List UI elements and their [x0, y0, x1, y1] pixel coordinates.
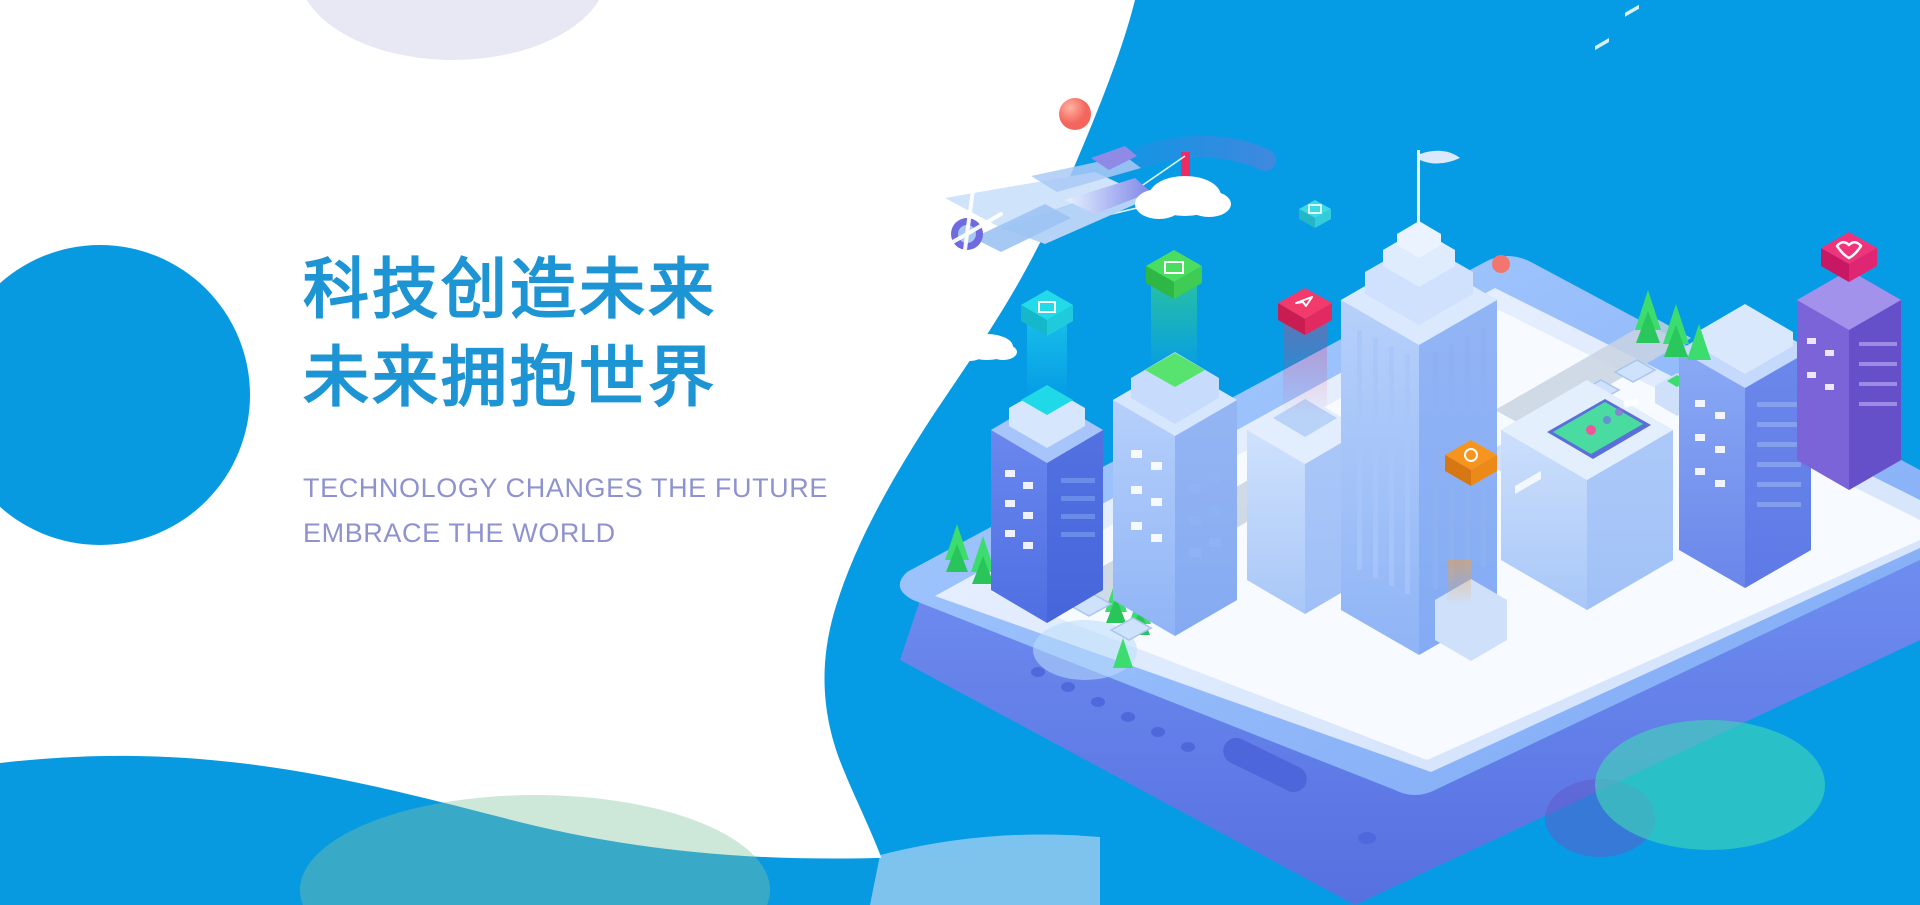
building-green-tower	[1113, 352, 1237, 636]
building-cyan-tower	[991, 385, 1103, 623]
cloud-large	[1135, 176, 1231, 219]
copy-block: 科技创造未来 未来拥抱世界 TECHNOLOGY CHANGES THE FUT…	[303, 245, 923, 556]
building-flagship-skyscraper	[1341, 150, 1497, 655]
beacon-cyan	[1021, 290, 1073, 396]
beacon-tag-small	[1299, 200, 1331, 228]
beacon-green	[1146, 250, 1202, 372]
headline-line-1: 科技创造未来	[303, 245, 923, 333]
decor-ellipse-teal	[1595, 720, 1825, 850]
beacon-pink	[1278, 288, 1332, 414]
subtitle-block: TECHNOLOGY CHANGES THE FUTURE EMBRACE TH…	[303, 466, 923, 556]
building-heart-beacon	[1797, 270, 1901, 490]
balloon-pink	[1492, 255, 1510, 273]
cloud-medium	[953, 334, 1017, 361]
balloon-coral	[1059, 98, 1091, 130]
airplane	[931, 124, 1151, 282]
hero-banner: 科技创造未来 未来拥抱世界 TECHNOLOGY CHANGES THE FUT…	[0, 0, 1920, 905]
flag	[1417, 150, 1460, 226]
beacon-heart	[1821, 232, 1877, 282]
subtitle-line-2: EMBRACE THE WORLD	[303, 511, 923, 556]
subtitle-line-1: TECHNOLOGY CHANGES THE FUTURE	[303, 466, 923, 511]
headline-line-2: 未来拥抱世界	[303, 333, 923, 421]
